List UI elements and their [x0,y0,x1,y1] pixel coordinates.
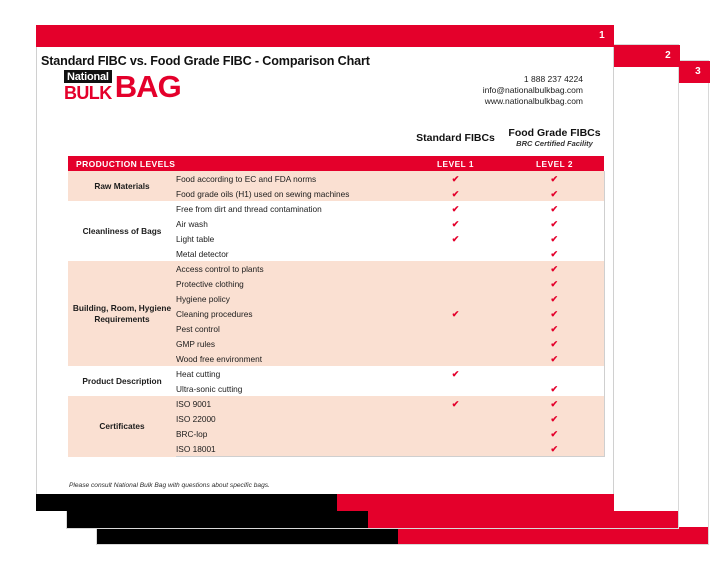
check-icon: ✔ [550,249,558,259]
check-icon: ✔ [452,219,460,229]
standard-check-cell: ✔ [406,321,505,336]
page-2-bottom-black [67,511,368,528]
check-icon: ✔ [452,369,460,379]
production-levels-row: PRODUCTION LEVELS LEVEL 1 LEVEL 2 [68,156,604,171]
row-item-label: ISO 22000 [176,411,406,426]
row-group-label: Raw Materials [68,171,176,201]
food-grade-check-cell: ✔ [505,381,604,396]
comparison-table: Standard FIBCs Food Grade FIBCs BRC Cert… [68,120,605,457]
document-stack: 3 2 1 National BULK BAG 1 888 237 4 [0,0,725,575]
header-spacer-2 [176,120,406,156]
standard-check-cell: ✔ [406,441,505,457]
check-icon: ✔ [550,174,558,184]
standard-check-cell: ✔ [406,426,505,441]
standard-check-cell: ✔ [406,186,505,201]
check-icon: ✔ [550,279,558,289]
standard-check-cell: ✔ [406,216,505,231]
row-item-label: GMP rules [176,336,406,351]
page-card-1[interactable]: 1 National BULK BAG 1 888 237 4224 info@… [36,26,614,511]
check-icon: ✔ [550,324,558,334]
check-icon: ✔ [550,399,558,409]
food-grade-check-cell: ✔ [505,186,604,201]
food-grade-check-cell: ✔ [505,351,604,366]
check-icon: ✔ [550,414,558,424]
check-icon: ✔ [550,354,558,364]
contact-block: 1 888 237 4224 info@nationalbulkbag.com … [483,74,583,107]
row-item-label: Protective clothing [176,276,406,291]
food-grade-check-cell: ✔ [505,441,604,457]
row-group-label: Product Description [68,366,176,396]
column-header-standard-label: Standard FIBCs [406,132,505,144]
logo-national-text: National [64,70,112,83]
contact-phone: 1 888 237 4224 [483,74,583,85]
food-grade-check-cell: ✔ [505,306,604,321]
food-grade-check-cell: ✔ [505,246,604,261]
row-item-label: Free from dirt and thread contamination [176,201,406,216]
standard-check-cell: ✔ [406,276,505,291]
standard-check-cell: ✔ [406,411,505,426]
standard-check-cell: ✔ [406,291,505,306]
check-icon: ✔ [452,204,460,214]
logo-bulk-text: BULK [64,84,112,102]
table-row: Product DescriptionHeat cutting✔✔ [68,366,604,381]
row-item-label: Wood free environment [176,351,406,366]
page-1-bottom-black [36,494,337,511]
row-item-label: Pest control [176,321,406,336]
column-header-food-grade: Food Grade FIBCs BRC Certified Facility [505,120,604,156]
check-icon: ✔ [550,264,558,274]
column-header-food-grade-sub: BRC Certified Facility [505,139,604,149]
standard-check-cell: ✔ [406,396,505,411]
page-title: Standard FIBC vs. Food Grade FIBC - Comp… [41,54,370,68]
standard-check-cell: ✔ [406,201,505,216]
standard-check-cell: ✔ [406,336,505,351]
table-row: Building, Room, Hygiene RequirementsAcce… [68,261,604,276]
column-header-food-grade-label: Food Grade FIBCs [505,127,604,139]
column-header-standard: Standard FIBCs [406,120,505,156]
level-2-label: LEVEL 2 [505,156,604,171]
check-icon: ✔ [452,234,460,244]
table-row: Cleanliness of BagsFree from dirt and th… [68,201,604,216]
food-grade-check-cell: ✔ [505,366,604,381]
check-icon: ✔ [550,309,558,319]
standard-check-cell: ✔ [406,246,505,261]
row-group-label: Cleanliness of Bags [68,201,176,261]
row-item-label: Cleaning procedures [176,306,406,321]
page-1-number: 1 [599,28,605,44]
check-icon: ✔ [550,384,558,394]
table-row: Raw MaterialsFood according to EC and FD… [68,171,604,186]
standard-check-cell: ✔ [406,261,505,276]
row-item-label: Access control to plants [176,261,406,276]
standard-check-cell: ✔ [406,231,505,246]
check-icon: ✔ [550,219,558,229]
standard-check-cell: ✔ [406,351,505,366]
header-spacer [68,120,176,156]
page-3-number: 3 [695,64,701,80]
row-item-label: BRC-lop [176,426,406,441]
page-1-top-band: 1 [36,25,614,47]
row-item-label: Metal detector [176,246,406,261]
table-body: Standard FIBCs Food Grade FIBCs BRC Cert… [68,120,604,457]
row-item-label: Heat cutting [176,366,406,381]
page-3-bottom-band [97,527,708,544]
check-icon: ✔ [550,294,558,304]
food-grade-check-cell: ✔ [505,261,604,276]
page-2-bottom-band [67,511,678,528]
page-2-number: 2 [665,48,671,64]
production-levels-label: PRODUCTION LEVELS [68,156,406,171]
food-grade-check-cell: ✔ [505,426,604,441]
row-item-label: Air wash [176,216,406,231]
level-1-label: LEVEL 1 [406,156,505,171]
food-grade-check-cell: ✔ [505,321,604,336]
page-content: National BULK BAG 1 888 237 4224 info@na… [37,48,613,493]
check-icon: ✔ [550,339,558,349]
food-grade-check-cell: ✔ [505,171,604,186]
check-icon: ✔ [550,234,558,244]
food-grade-check-cell: ✔ [505,231,604,246]
check-icon: ✔ [550,204,558,214]
standard-check-cell: ✔ [406,306,505,321]
check-icon: ✔ [452,309,460,319]
standard-check-cell: ✔ [406,366,505,381]
row-item-label: Light table [176,231,406,246]
row-group-label: Building, Room, Hygiene Requirements [68,261,176,366]
table-note: Please consult National Bulk Bag with qu… [69,482,270,489]
page-1-bottom-band [36,494,614,511]
standard-check-cell: ✔ [406,171,505,186]
contact-website[interactable]: www.nationalbulkbag.com [483,96,583,107]
row-item-label: Hygiene policy [176,291,406,306]
check-icon: ✔ [452,174,460,184]
check-icon: ✔ [452,399,460,409]
page-3-bottom-black [97,527,398,544]
food-grade-check-cell: ✔ [505,216,604,231]
food-grade-check-cell: ✔ [505,291,604,306]
table-row: CertificatesISO 9001✔✔ [68,396,604,411]
row-item-label: ISO 9001 [176,396,406,411]
table-header-row: Standard FIBCs Food Grade FIBCs BRC Cert… [68,120,604,156]
check-icon: ✔ [452,189,460,199]
row-item-label: Food according to EC and FDA norms [176,171,406,186]
food-grade-check-cell: ✔ [505,411,604,426]
food-grade-check-cell: ✔ [505,396,604,411]
row-item-label: Food grade oils (H1) used on sewing mach… [176,186,406,201]
contact-email[interactable]: info@nationalbulkbag.com [483,85,583,96]
check-icon: ✔ [550,189,558,199]
food-grade-check-cell: ✔ [505,336,604,351]
row-item-label: Ultra-sonic cutting [176,381,406,396]
check-icon: ✔ [550,429,558,439]
food-grade-check-cell: ✔ [505,276,604,291]
company-logo: National BULK BAG [64,70,181,104]
logo-left-block: National BULK [64,70,112,102]
row-item-label: ISO 18001 [176,441,406,457]
row-group-label: Certificates [68,396,176,457]
logo-bag-text: BAG [115,71,181,102]
food-grade-check-cell: ✔ [505,201,604,216]
standard-check-cell: ✔ [406,381,505,396]
check-icon: ✔ [550,444,558,454]
